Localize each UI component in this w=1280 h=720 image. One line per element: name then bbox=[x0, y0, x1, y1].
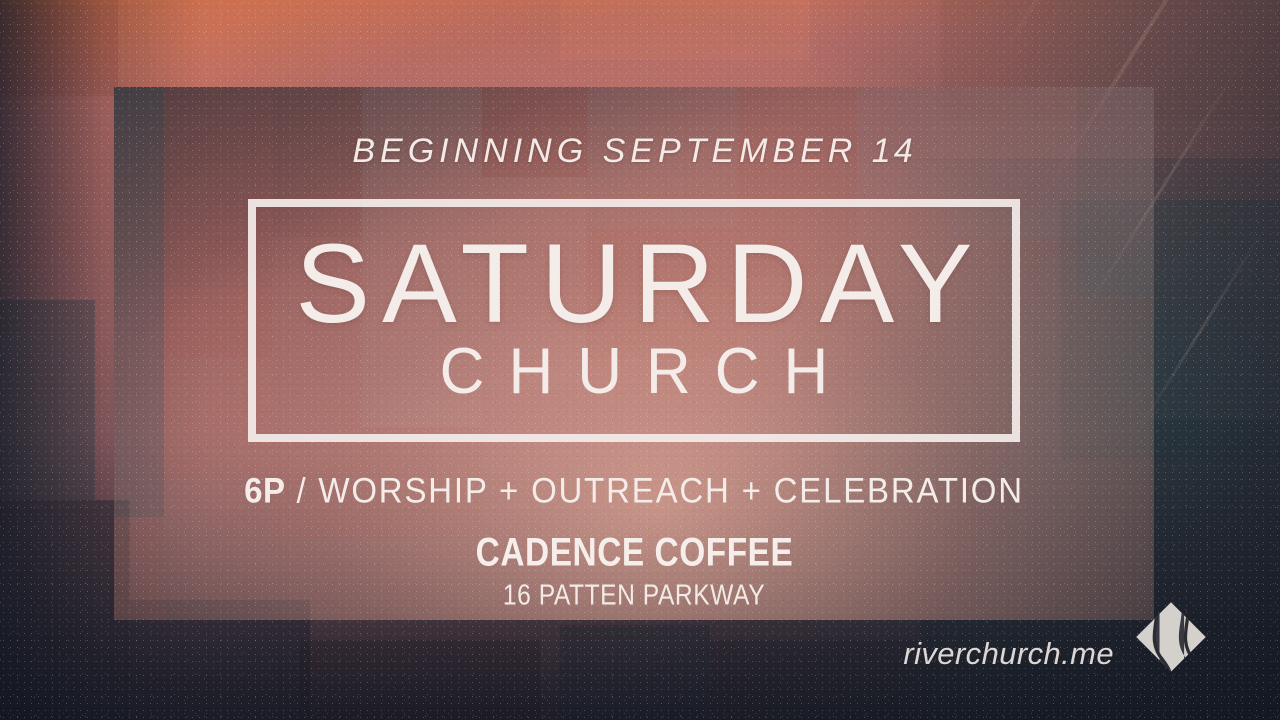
river-diamond-logo-icon bbox=[1130, 596, 1212, 678]
poster-content: BEGINNING SEPTEMBER 14 SATURDAY CHURCH 6… bbox=[114, 87, 1154, 620]
kicker-day-number: 14 bbox=[872, 132, 916, 170]
poster-canvas: BEGINNING SEPTEMBER 14 SATURDAY CHURCH 6… bbox=[0, 0, 1280, 720]
poster-title-sub: CHURCH bbox=[416, 339, 853, 404]
event-start-kicker: BEGINNING SEPTEMBER 14 bbox=[352, 132, 915, 171]
kicker-lead-text: BEGINNING SEPTEMBER bbox=[352, 132, 857, 170]
venue-name: CADENCE COFFEE bbox=[475, 531, 793, 576]
poster-title-main: SATURDAY bbox=[283, 232, 984, 335]
event-time-and-activities: 6P / WORSHIP + OUTREACH + CELEBRATION bbox=[244, 471, 1024, 511]
title-frame-box: SATURDAY CHURCH bbox=[248, 199, 1020, 442]
event-activities: WORSHIP + OUTREACH + CELEBRATION bbox=[318, 471, 1024, 510]
website-url[interactable]: riverchurch.me bbox=[903, 636, 1114, 672]
event-time: 6P bbox=[244, 471, 285, 510]
venue-address: 16 PATTEN PARKWAY bbox=[503, 578, 765, 611]
detail-separator: / bbox=[296, 471, 307, 510]
